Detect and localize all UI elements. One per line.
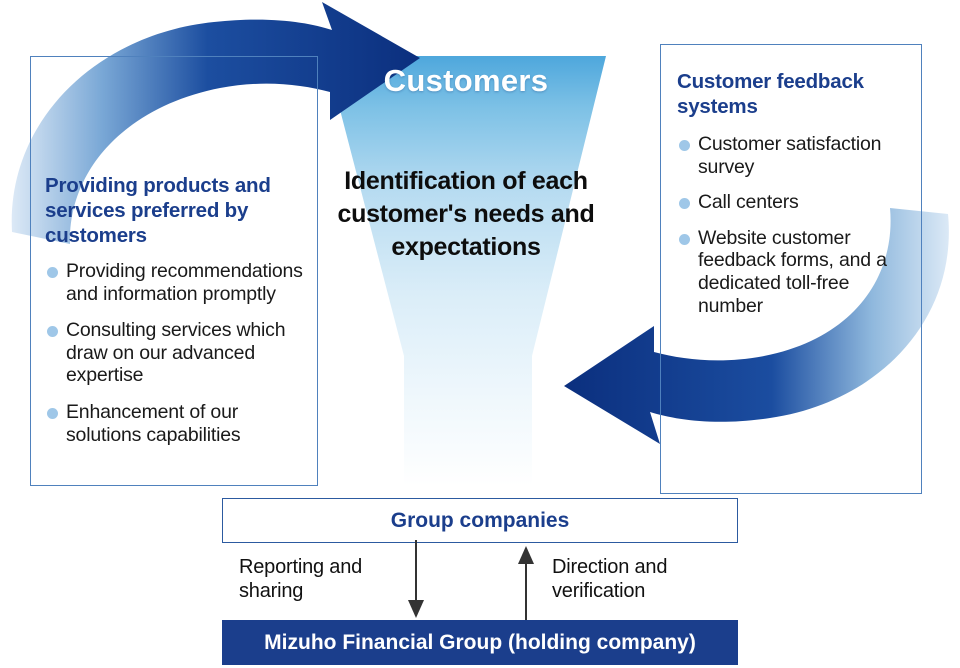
group-companies-label: Group companies	[391, 509, 570, 533]
group-companies-box: Group companies	[222, 498, 738, 543]
panel-left-bullet-list: Providing recommendations and informatio…	[45, 260, 309, 446]
funnel-body-text: Identification of each customer's needs …	[330, 165, 602, 264]
arrow-direction-up	[518, 546, 534, 624]
list-item: Enhancement of our solutions capabilitie…	[45, 401, 309, 446]
holding-company-label: Mizuho Financial Group (holding company)	[264, 631, 696, 655]
panel-right-bullet-list: Customer satisfaction survey Call center…	[677, 133, 911, 317]
panel-right-title: Customer feedback systems	[677, 69, 911, 119]
list-item: Call centers	[677, 191, 911, 214]
list-item: Providing recommendations and informatio…	[45, 260, 309, 305]
funnel-title: Customers	[318, 63, 614, 99]
list-item: Consulting services which draw on our ad…	[45, 319, 309, 387]
customer-funnel-shape	[318, 56, 614, 486]
arrow-reporting-down	[408, 540, 424, 618]
caption-reporting-and-sharing: Reporting and sharing	[239, 555, 409, 604]
panel-customer-feedback: Customer feedback systems Customer satis…	[660, 44, 922, 494]
caption-direction-and-verification: Direction and verification	[552, 555, 737, 604]
panel-providing-products: Providing products and services preferre…	[30, 56, 318, 486]
list-item: Website customer feedback forms, and a d…	[677, 227, 911, 317]
holding-company-box: Mizuho Financial Group (holding company)	[222, 620, 738, 665]
list-item: Customer satisfaction survey	[677, 133, 911, 178]
panel-left-title: Providing products and services preferre…	[45, 173, 309, 248]
